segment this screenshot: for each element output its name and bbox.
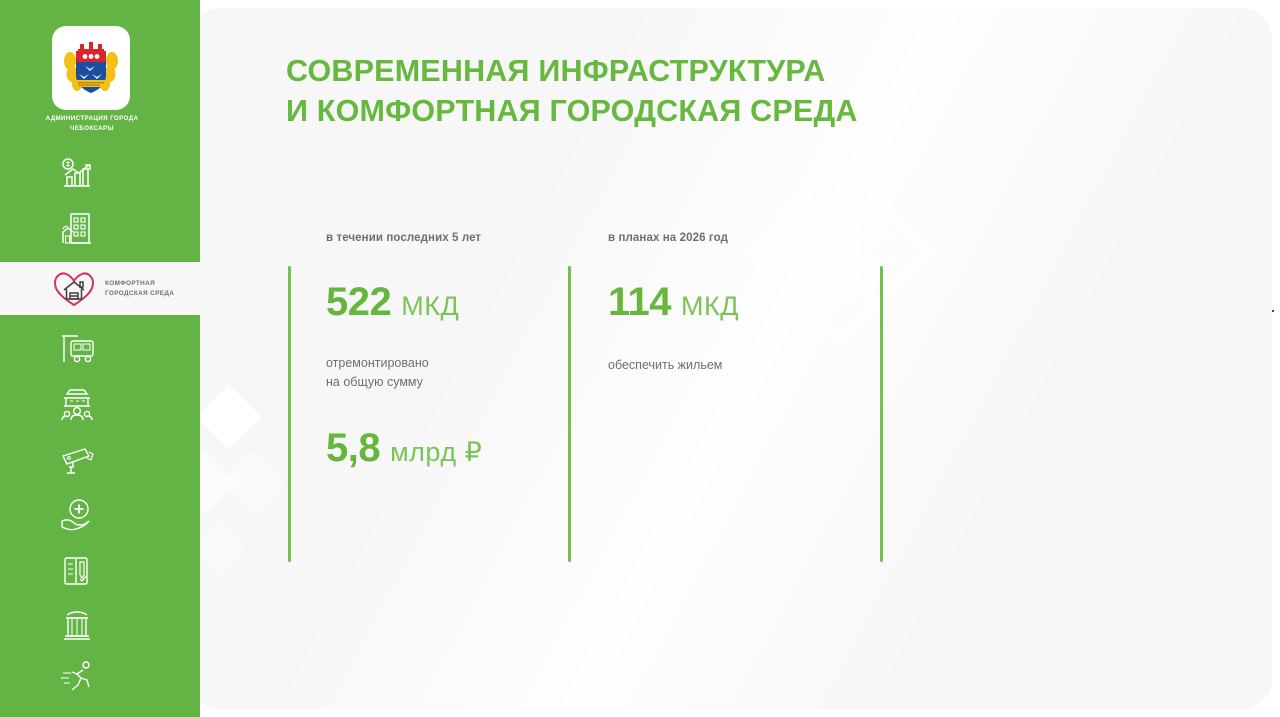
sidebar-item-sport[interactable] — [54, 653, 100, 699]
sidebar-item-government[interactable] — [54, 382, 100, 428]
economy-growth-chart-icon — [57, 153, 97, 193]
cctv-security-camera-icon — [57, 440, 97, 480]
decorative-diamond — [220, 450, 285, 515]
sidebar-item-transport[interactable] — [54, 326, 100, 372]
city-logo[interactable] — [52, 26, 130, 110]
education-book-icon — [57, 551, 97, 591]
sidebar: АДМИНИСТРАЦИЯ ГОРОДА ЧЕБОКСАРЫ — [0, 0, 200, 717]
column-divider-1 — [288, 266, 291, 562]
housing-building-icon — [57, 209, 97, 249]
sidebar-item-comfortable-urban-environment[interactable]: КОМФОРТНАЯ ГОРОДСКАЯ СРЕДА — [52, 268, 174, 310]
sidebar-item-education[interactable] — [54, 548, 100, 594]
chuvash-ornament-watermark — [735, 146, 945, 356]
column-2-kicker: в планах на 2026 год — [608, 232, 728, 244]
culture-column-icon — [57, 606, 97, 646]
page-title: СОВРЕМЕННАЯ ИНФРАСТРУКТУРА И КОМФОРТНАЯ … — [286, 52, 858, 131]
decorative-diamond — [196, 384, 261, 449]
sidebar-item-label: КОМФОРТНАЯ ГОРОДСКАЯ СРЕДА — [105, 279, 174, 300]
column-1-stat-value: 522 — [326, 280, 391, 325]
cheboksary-coat-of-arms-icon — [61, 35, 121, 101]
column-1-stat2-value: 5,8 — [326, 426, 380, 471]
sport-runner-icon — [57, 656, 97, 696]
column-2-stat-value: 114 — [608, 280, 671, 325]
column-divider-3 — [880, 266, 883, 562]
sidebar-item-security[interactable] — [54, 437, 100, 483]
healthcare-hand-cross-icon — [57, 495, 97, 535]
public-transport-bus-stop-icon — [57, 329, 97, 369]
column-divider-2 — [568, 266, 571, 562]
sidebar-panel-bottom — [0, 315, 200, 717]
sidebar-item-housing[interactable] — [54, 206, 100, 252]
sidebar-item-economy[interactable] — [54, 150, 100, 196]
column-1-stat-secondary: 5,8 млрд ₽ — [326, 426, 482, 471]
sidebar-item-culture[interactable] — [54, 603, 100, 649]
column-1-stat-unit: МКД — [401, 291, 459, 322]
column-2-stat-unit: МКД — [681, 291, 739, 322]
column-2-stat-primary: 114 МКД — [608, 280, 739, 325]
column-1-stat2-unit: млрд ₽ — [390, 437, 482, 468]
slide-content-card: СОВРЕМЕННАЯ ИНФРАСТРУКТУРА И КОМФОРТНАЯ … — [190, 8, 1272, 709]
municipal-government-people-icon — [57, 385, 97, 425]
column-1-stat-primary: 522 МКД — [326, 280, 459, 325]
column-2-caption: обеспечить жильем — [608, 356, 722, 375]
logo-caption: АДМИНИСТРАЦИЯ ГОРОДА ЧЕБОКСАРЫ — [36, 114, 148, 133]
column-1-caption: отремонтировано на общую сумму — [326, 354, 429, 392]
slide-root: СОВРЕМЕННАЯ ИНФРАСТРУКТУРА И КОМФОРТНАЯ … — [0, 0, 1280, 717]
column-1-kicker: в течении последних 5 лет — [326, 232, 481, 244]
sidebar-item-healthcare[interactable] — [54, 492, 100, 538]
comfortable-urban-environment-heart-house-icon — [52, 268, 96, 310]
